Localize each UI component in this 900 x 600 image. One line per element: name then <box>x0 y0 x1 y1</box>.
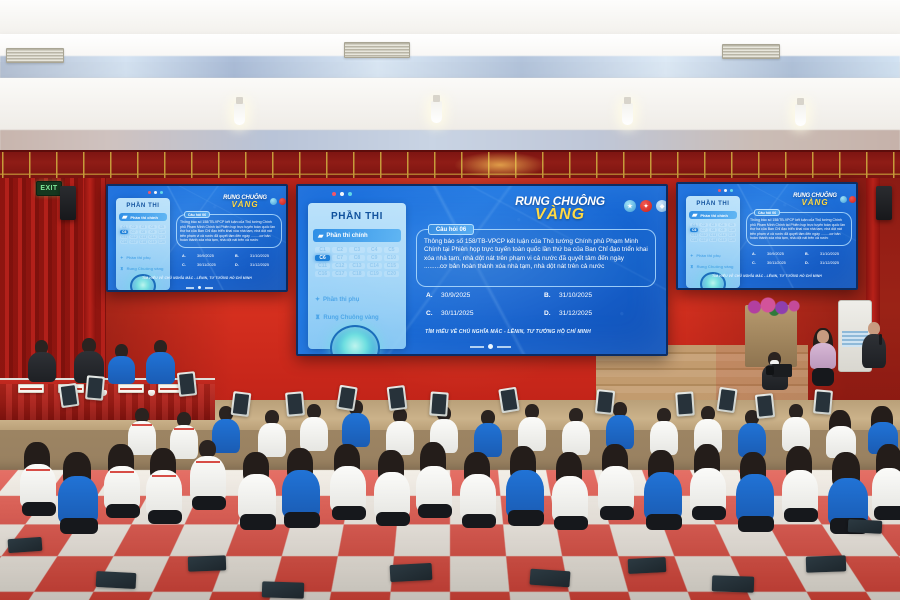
legs <box>192 496 226 510</box>
q-cell[interactable]: C4 <box>718 223 726 227</box>
answer-slate <box>675 391 695 416</box>
option-a[interactable]: A.30/9/2025 <box>182 254 231 258</box>
answer-slate <box>755 393 775 419</box>
option-letter: B. <box>805 252 814 256</box>
sidebar-active-label: Phần thi chính <box>130 215 158 220</box>
left-led-screen[interactable]: PHẦN THI ▰ Phần thi chính C1 C2 C3 C4 C5… <box>106 184 288 292</box>
question-grid[interactable]: C1 C2 C3 C4 C5 C6 C7 C8 C9 C10 C11 C12 C… <box>315 247 399 277</box>
bell-trophy-icon: ♜ <box>690 264 694 269</box>
q-cell[interactable]: C7 <box>699 228 707 232</box>
legs <box>812 368 834 386</box>
q-cell[interactable]: C20 <box>384 271 399 277</box>
legs <box>600 506 634 520</box>
torso <box>28 352 56 382</box>
question-number-tag: Câu hỏi 06 <box>428 224 474 235</box>
torso <box>146 352 175 384</box>
air-vent-icon <box>722 44 780 59</box>
q-cell[interactable]: C11 <box>120 235 128 239</box>
option-value: 31/12/2025 <box>250 263 269 267</box>
chart-bars-icon: ▰ <box>122 213 127 221</box>
answer-board-on-floor <box>712 575 755 592</box>
torso <box>108 356 135 384</box>
sidebar-active-item[interactable]: ▰ Phần thi chính <box>119 213 167 221</box>
window-dots <box>148 191 163 194</box>
q-cell[interactable]: C16 <box>315 271 330 277</box>
option-value: 30/11/2025 <box>197 263 216 267</box>
q-cell[interactable]: C7 <box>129 230 137 234</box>
red-dot <box>332 192 336 196</box>
legs <box>106 504 140 518</box>
legs <box>240 514 276 530</box>
q-cell[interactable]: C14 <box>718 233 726 237</box>
option-c[interactable]: C.30/11/2025 <box>182 263 231 267</box>
sidebar-title: PHẦN THI <box>308 211 406 222</box>
pagination-indicator[interactable] <box>470 344 511 349</box>
sidebar-item-rung-chuong-vang[interactable]: ♜ Rung Chuông vàng <box>315 314 379 321</box>
sidebar-active-item[interactable]: ▰ Phần thi chính <box>313 229 401 242</box>
show-logo: RUNG CHUÔNG VÀNG <box>222 195 268 209</box>
torso <box>258 423 286 457</box>
torso <box>300 417 328 451</box>
option-a[interactable]: A.30/9/2025 <box>426 292 534 299</box>
legs <box>148 510 182 524</box>
answer-slate <box>813 389 833 414</box>
answer-slate <box>58 383 79 408</box>
legs <box>418 504 452 518</box>
chart-bars-icon: ▰ <box>692 211 697 219</box>
torso <box>810 343 836 369</box>
q-cell[interactable]: C20 <box>158 240 166 244</box>
answer-options[interactable]: A.30/9/2025 B.31/10/2025 C.30/11/2025 D.… <box>182 254 284 267</box>
badge-row: ★ ✦ ◆ <box>624 200 668 212</box>
q-cell[interactable]: C19 <box>148 240 156 244</box>
q-cell[interactable]: C3 <box>349 247 364 253</box>
badge-row <box>270 198 288 205</box>
q-cell[interactable]: C8 <box>349 255 364 261</box>
answer-board-on-floor <box>188 555 227 571</box>
sidebar-title: PHẦN THI <box>116 203 170 209</box>
q-cell[interactable]: C5 <box>384 247 399 253</box>
runner-icon: ✦ <box>690 253 693 258</box>
sidebar-item-phan-thi-phu[interactable]: ✦ Phần thi phụ <box>315 296 359 303</box>
main-screen-sidebar: PHẦN THI ▰ Phần thi chính C1 C2 C3 C4 C5… <box>308 203 406 349</box>
logo-line-2: VÀNG <box>792 199 838 207</box>
badge-emblem-blue: ★ <box>624 200 636 212</box>
bell-trophy-icon: ♜ <box>120 266 124 271</box>
q-cell[interactable]: C9 <box>148 230 156 234</box>
red-dot <box>148 191 151 194</box>
q-cell[interactable]: C8 <box>139 230 147 234</box>
pager-dot-active <box>488 344 493 349</box>
q-cell[interactable]: C17 <box>699 238 707 242</box>
legs <box>376 512 410 526</box>
legs <box>284 512 320 528</box>
ceiling-spotlight <box>622 103 633 125</box>
q-cell[interactable]: C1 <box>315 247 330 253</box>
q-cell[interactable]: C4 <box>148 225 156 229</box>
q-cell[interactable]: C12 <box>129 235 137 239</box>
option-letter: B. <box>544 292 553 299</box>
option-value: 31/10/2025 <box>559 292 592 299</box>
q-cell[interactable]: C10 <box>728 228 736 232</box>
q-cell[interactable]: C12 <box>332 263 347 269</box>
show-logo: RUNG CHUÔNG VÀNG <box>506 195 614 223</box>
badge-row <box>840 196 858 203</box>
torso <box>58 476 98 524</box>
q-cell[interactable]: C14 <box>148 235 156 239</box>
runner-icon: ✦ <box>315 296 320 303</box>
q-cell[interactable]: C20 <box>728 238 736 242</box>
white-dot <box>724 189 727 192</box>
sidebar-item-label: Rung Chuông vàng <box>127 266 164 271</box>
answer-slate <box>429 391 449 416</box>
q-cell[interactable]: C15 <box>158 235 166 239</box>
q-cell[interactable]: C16 <box>690 238 698 242</box>
question-number-tag: Câu hỏi 06 <box>754 209 780 216</box>
sidebar-active-item[interactable]: ▰ Phần thi chính <box>689 211 737 219</box>
torso <box>562 421 590 455</box>
q-cell-active[interactable]: C6 <box>690 228 698 232</box>
option-value: 30/11/2025 <box>767 261 786 265</box>
badge-emblem-blue <box>270 198 277 205</box>
cyan-dot <box>160 191 163 194</box>
sidebar-active-label: Phần thi chính <box>700 213 728 218</box>
answer-slate <box>336 385 358 412</box>
runner-icon: ✦ <box>120 255 123 260</box>
option-letter: C. <box>426 310 435 317</box>
q-cell-active[interactable]: C6 <box>315 255 330 261</box>
question-text: Thông báo số 158/TB-VPCP kết luận của Th… <box>424 238 648 271</box>
torso <box>212 419 240 453</box>
judge-name-card <box>118 384 144 393</box>
q-cell[interactable]: C18 <box>349 271 364 277</box>
air-vent-icon <box>344 42 410 58</box>
answer-board-on-floor <box>96 571 137 589</box>
q-cell[interactable]: C14 <box>367 263 382 269</box>
question-text: Thông báo số 158/TB-VPCP kết luận của Th… <box>180 220 278 243</box>
speaker-box <box>876 186 892 220</box>
sidebar-item-phan-thi-phu[interactable]: ✦ Phần thi phụ <box>690 253 721 258</box>
q-cell[interactable]: C1 <box>690 223 698 227</box>
option-letter: D. <box>805 261 814 265</box>
q-cell[interactable]: C12 <box>699 233 707 237</box>
sidebar-item-label: Phần thi phụ <box>696 253 720 258</box>
judge-name-card <box>18 384 44 393</box>
option-value: 30/9/2025 <box>767 252 784 256</box>
q-cell[interactable]: C2 <box>699 223 707 227</box>
q-cell[interactable]: C8 <box>709 228 717 232</box>
chart-bars-icon: ▰ <box>318 232 323 240</box>
q-cell[interactable]: C13 <box>139 235 147 239</box>
pagination-indicator[interactable] <box>186 286 213 289</box>
option-b[interactable]: B.31/10/2025 <box>235 254 284 258</box>
ceiling-cove-light <box>0 56 900 78</box>
legs <box>462 514 496 528</box>
sidebar-item-label: Rung Chuông vàng <box>697 264 734 269</box>
sidebar-title: PHẦN THI <box>686 201 740 207</box>
window-dots <box>718 189 733 192</box>
q-cell[interactable]: C11 <box>690 233 698 237</box>
frieze-pattern <box>0 152 900 178</box>
greek-key-frieze <box>0 150 900 180</box>
sidebar-item-label: Rung Chuông vàng <box>323 315 378 321</box>
q-cell[interactable]: C15 <box>384 263 399 269</box>
q-cell[interactable]: C15 <box>728 233 736 237</box>
option-value: 30/9/2025 <box>441 292 470 299</box>
answer-slate <box>595 389 615 415</box>
answer-board-on-floor <box>390 563 433 582</box>
screen-footer-text: TÌM HIỂU VỀ CHỦ NGHĨA MÁC - LÊNIN, TƯ TƯ… <box>358 329 658 335</box>
answer-slate <box>285 391 305 416</box>
sidebar-item-phan-thi-phu[interactable]: ✦ Phần thi phụ <box>120 255 151 260</box>
window-dots <box>332 192 352 196</box>
option-letter: A. <box>426 292 435 299</box>
pager-dash <box>186 287 194 289</box>
q-cell[interactable]: C2 <box>332 247 347 253</box>
screen-footer-text: TÌM HIỂU VỀ CHỦ NGHĨA MÁC - LÊNIN, TƯ TƯ… <box>108 276 286 280</box>
answer-board-on-floor <box>262 581 305 598</box>
legs <box>508 510 544 526</box>
legs <box>692 506 726 520</box>
option-letter: D. <box>544 310 553 317</box>
frieze-highlight <box>455 152 545 178</box>
legs <box>332 506 366 520</box>
q-cell[interactable]: C2 <box>129 225 137 229</box>
ceiling-band-top <box>0 0 900 34</box>
legs <box>646 514 682 530</box>
speaker-box <box>60 186 76 220</box>
head <box>817 330 829 343</box>
option-b[interactable]: B.31/10/2025 <box>805 252 854 256</box>
sidebar-item-label: Phần thi phụ <box>323 297 359 303</box>
answer-slate <box>387 385 408 411</box>
answer-slate <box>177 371 197 397</box>
ceiling-spotlight <box>431 101 442 123</box>
question-text: Thông báo số 158/TB-VPCP kết luận của Th… <box>750 218 848 241</box>
legs <box>22 502 56 516</box>
legs <box>554 516 588 530</box>
red-dot <box>718 189 721 192</box>
q-cell[interactable]: C10 <box>158 230 166 234</box>
question-number-tag: Câu hỏi 06 <box>184 211 210 218</box>
sidebar-item-rung-chuong-vang[interactable]: ♜ Rung Chuông vàng <box>690 264 733 269</box>
cyan-dot <box>730 189 733 192</box>
logo-line-2: VÀNG <box>222 201 268 209</box>
question-grid[interactable]: C1 C2 C3 C4 C5 C6 C7 C8 C9 C10 C11 C12 C… <box>690 223 736 242</box>
answer-board-on-floor <box>806 555 847 572</box>
torso <box>862 334 886 368</box>
badge-emblem-light: ◆ <box>656 200 668 212</box>
answer-slate <box>85 375 105 400</box>
air-vent-icon <box>6 48 64 63</box>
sidebar-item-label: Phần thi phụ <box>126 255 150 260</box>
q-cell[interactable]: C10 <box>384 255 399 261</box>
torso <box>644 472 682 520</box>
q-cell-active[interactable]: C6 <box>120 230 128 234</box>
q-cell[interactable]: C19 <box>718 238 726 242</box>
legs <box>874 506 900 520</box>
main-led-screen[interactable]: PHẦN THI ▰ Phần thi chính C1 C2 C3 C4 C5… <box>296 184 668 356</box>
legs <box>738 516 774 532</box>
answer-options[interactable]: A.30/9/2025 B.31/10/2025 C.30/11/2025 D.… <box>426 292 652 317</box>
right-led-screen[interactable]: PHẦN THI ▰ Phần thi chính C1 C2 C3 C4 C5… <box>676 182 858 290</box>
option-c[interactable]: C.30/11/2025 <box>426 310 534 317</box>
q-cell[interactable]: C17 <box>332 271 347 277</box>
stage-curtain <box>96 178 106 378</box>
q-cell[interactable]: C18 <box>139 240 147 244</box>
option-d[interactable]: D.31/12/2025 <box>805 261 854 265</box>
option-d[interactable]: D.31/12/2025 <box>235 263 284 267</box>
q-cell[interactable]: C17 <box>129 240 137 244</box>
option-value: 31/12/2025 <box>559 310 592 317</box>
pager-dash <box>470 346 484 348</box>
auditorium-scene: EXIT PHẦN THI ▰ Phần thi chính C1 C2 C3 … <box>0 0 900 600</box>
option-value: 31/12/2025 <box>820 261 839 265</box>
q-cell[interactable]: C9 <box>718 228 726 232</box>
q-cell[interactable]: C3 <box>139 225 147 229</box>
option-value: 31/10/2025 <box>820 252 839 256</box>
bell-trophy-icon: ♜ <box>315 314 320 321</box>
white-dot <box>154 191 157 194</box>
question-grid[interactable]: C1 C2 C3 C4 C5 C6 C7 C8 C9 C10 C11 C12 C… <box>120 225 166 244</box>
q-cell[interactable]: C1 <box>120 225 128 229</box>
torso <box>282 470 320 518</box>
badge-youth-union-red: ✦ <box>640 200 652 212</box>
option-letter: C. <box>752 261 761 265</box>
camera <box>772 364 792 377</box>
answer-slate <box>498 387 520 414</box>
exit-sign: EXIT <box>36 181 62 196</box>
answer-options[interactable]: A.30/9/2025 B.31/10/2025 C.30/11/2025 D.… <box>752 252 854 265</box>
ceiling-spotlight <box>795 104 806 126</box>
logo-line-2: VÀNG <box>506 207 614 223</box>
badge-youth-union-red <box>279 198 286 205</box>
pager-dash <box>205 287 213 289</box>
answer-slate <box>716 387 737 413</box>
pager-dash <box>497 346 511 348</box>
q-cell[interactable]: C11 <box>315 263 330 269</box>
q-cell[interactable]: C9 <box>367 255 382 261</box>
legs <box>60 518 98 534</box>
option-c[interactable]: C.30/11/2025 <box>752 261 801 265</box>
q-cell[interactable]: C4 <box>367 247 382 253</box>
option-value: 31/10/2025 <box>250 254 269 258</box>
show-logo: RUNG CHUÔNG VÀNG <box>792 193 838 207</box>
q-cell[interactable]: C5 <box>728 223 736 227</box>
q-cell[interactable]: C18 <box>709 238 717 242</box>
sidebar-item-rung-chuong-vang[interactable]: ♜ Rung Chuông vàng <box>120 266 163 271</box>
q-cell[interactable]: C3 <box>709 223 717 227</box>
option-letter: A. <box>182 254 191 258</box>
torso <box>342 413 370 447</box>
microphone <box>879 334 882 345</box>
option-letter: C. <box>182 263 191 267</box>
option-value: 30/11/2025 <box>441 310 474 317</box>
q-cell[interactable]: C13 <box>349 263 364 269</box>
ceiling-spotlight <box>234 103 245 125</box>
option-letter: D. <box>235 263 244 267</box>
badge-youth-union-red <box>849 196 856 203</box>
answer-board-on-floor <box>8 537 43 553</box>
answer-board-on-floor <box>848 519 883 534</box>
torso <box>736 474 774 522</box>
answer-slate <box>231 391 252 417</box>
white-dot <box>340 192 344 196</box>
pager-dot-active <box>198 286 201 289</box>
answer-board-on-floor <box>529 569 570 588</box>
legs <box>784 508 818 522</box>
flower-arrangement <box>742 296 804 316</box>
option-b[interactable]: B.31/10/2025 <box>544 292 652 299</box>
option-a[interactable]: A.30/9/2025 <box>752 252 801 256</box>
option-letter: A. <box>752 252 761 256</box>
badge-emblem-blue <box>840 196 847 203</box>
q-cell[interactable]: C19 <box>367 271 382 277</box>
q-cell[interactable]: C5 <box>158 225 166 229</box>
answer-board-on-floor <box>628 557 667 574</box>
ceiling <box>0 0 900 172</box>
option-letter: B. <box>235 254 244 258</box>
screen-footer-text: TÌM HIỂU VỀ CHỦ NGHĨA MÁC - LÊNIN, TƯ TƯ… <box>678 274 856 278</box>
option-value: 30/9/2025 <box>197 254 214 258</box>
ceiling-band-fourth <box>0 78 900 130</box>
cyan-dot <box>348 192 352 196</box>
q-cell[interactable]: C13 <box>709 233 717 237</box>
option-d[interactable]: D.31/12/2025 <box>544 310 652 317</box>
q-cell[interactable]: C16 <box>120 240 128 244</box>
q-cell[interactable]: C7 <box>332 255 347 261</box>
sidebar-active-label: Phần thi chính <box>326 233 367 239</box>
